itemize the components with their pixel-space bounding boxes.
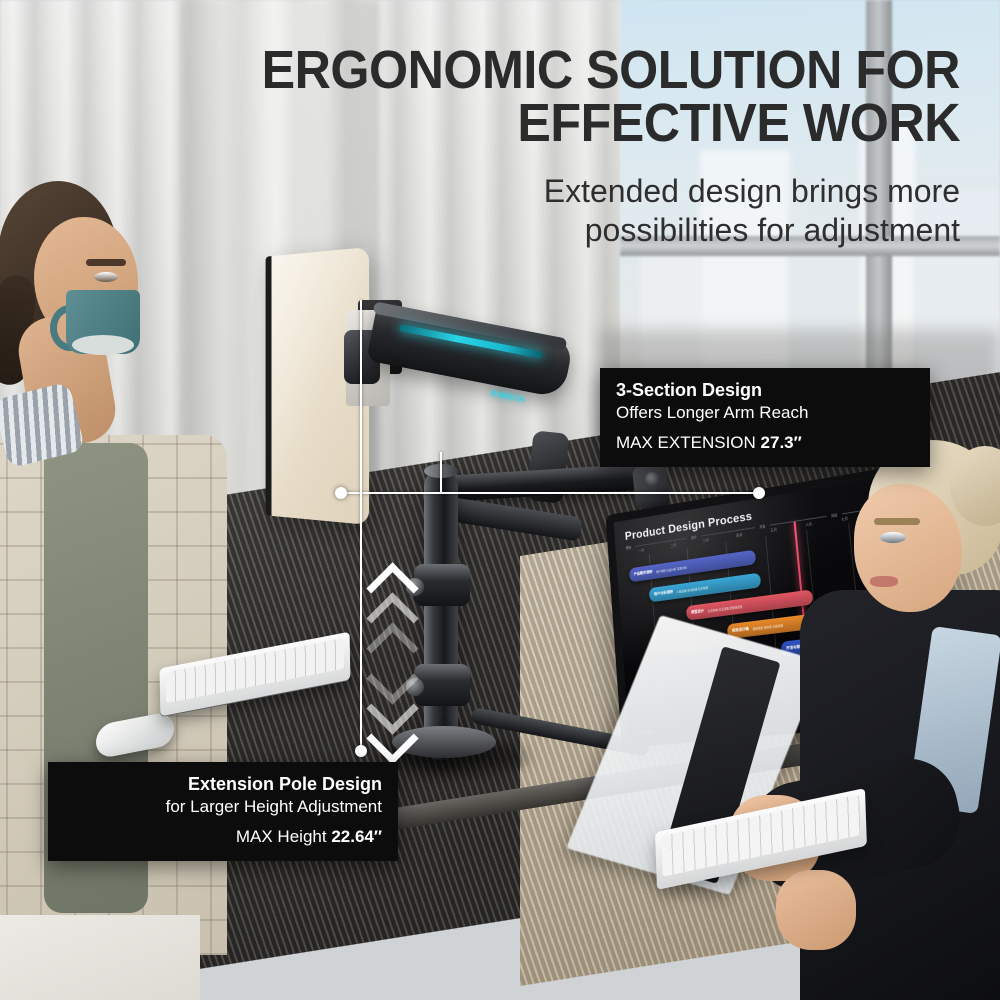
gantt-tick-label: 四月 (736, 532, 743, 538)
height-measure-line (360, 300, 362, 752)
callout-title: Extension Pole Design (64, 774, 382, 796)
gantt-bar-description: 人群画像 场景梳理 任务地图 (676, 585, 708, 593)
process-step: 开发 (759, 524, 765, 530)
mug-rim (72, 335, 134, 355)
measure-tick (440, 452, 442, 492)
callout-spec: MAX Height 22.64″ (64, 827, 382, 847)
gantt-tick-label: 二月 (670, 542, 676, 548)
subheadline-line-2: possibilities for adjustment (300, 211, 960, 250)
callout-three-section-design: 3-Section Design Offers Longer Arm Reach… (600, 368, 930, 467)
eyebrow (874, 518, 920, 525)
person-right-woman (790, 440, 1000, 1000)
callout-spec-value: 22.64″ (331, 827, 382, 846)
callout-spec-label: MAX EXTENSION (616, 433, 756, 452)
callout-subtitle: for Larger Height Adjustment (64, 796, 382, 817)
page-subtitle: Extended design brings more possibilitie… (300, 172, 960, 250)
gantt-bar-label: 产品需求调研 (634, 570, 653, 577)
lips (870, 576, 898, 587)
process-step: 设计 (691, 534, 697, 540)
subheadline-line-1: Extended design brings more (300, 172, 960, 211)
trousers (0, 915, 200, 1000)
gantt-bar-label: 用户分析调研 (654, 590, 673, 597)
measure-dot-pole (355, 745, 367, 757)
gantt-tick-label: 一月 (638, 547, 644, 553)
callout-subtitle: Offers Longer Arm Reach (616, 402, 914, 423)
extension-measure-line (340, 492, 760, 494)
product-marketing-image: RIMDCA Product Design Process 策划 设计 开发 测… (0, 0, 1000, 1000)
callout-spec-label: MAX Height (236, 827, 327, 846)
headline-line-1: ERGONOMIC SOLUTION FOR (225, 44, 960, 97)
gantt-tick-label: 三月 (703, 537, 710, 543)
callout-spec: MAX EXTENSION 27.3″ (616, 433, 914, 453)
eye (880, 532, 906, 543)
measure-dot-end (753, 487, 765, 499)
extension-pole (424, 470, 458, 760)
eye (94, 272, 118, 282)
callout-title: 3-Section Design (616, 380, 914, 402)
arm-mount-hole (645, 472, 659, 486)
eyebrow (86, 259, 126, 266)
hand-lower (776, 870, 856, 950)
callout-extension-pole-design: Extension Pole Design for Larger Height … (48, 762, 398, 861)
process-step: 策划 (626, 545, 632, 550)
headline-line-2: EFFECTIVE WORK (225, 97, 960, 150)
gantt-bar-description: 视觉规范 组件库 高保真稿 (752, 623, 783, 631)
gantt-bar-label: 原型设计 (691, 609, 704, 616)
gantt-bar-label: 视觉设计稿 (732, 627, 749, 634)
page-title: ERGONOMIC SOLUTION FOR EFFECTIVE WORK (225, 44, 960, 150)
gantt-tick-label: 五月 (770, 527, 777, 533)
measure-dot-start (335, 487, 347, 499)
gantt-bar-description: 信息架构 交互流程 低保真原型 (707, 604, 742, 612)
gantt-bar-description: 用户调研 竞品分析 需求清单 (656, 565, 687, 573)
callout-spec-value: 27.3″ (761, 433, 802, 452)
